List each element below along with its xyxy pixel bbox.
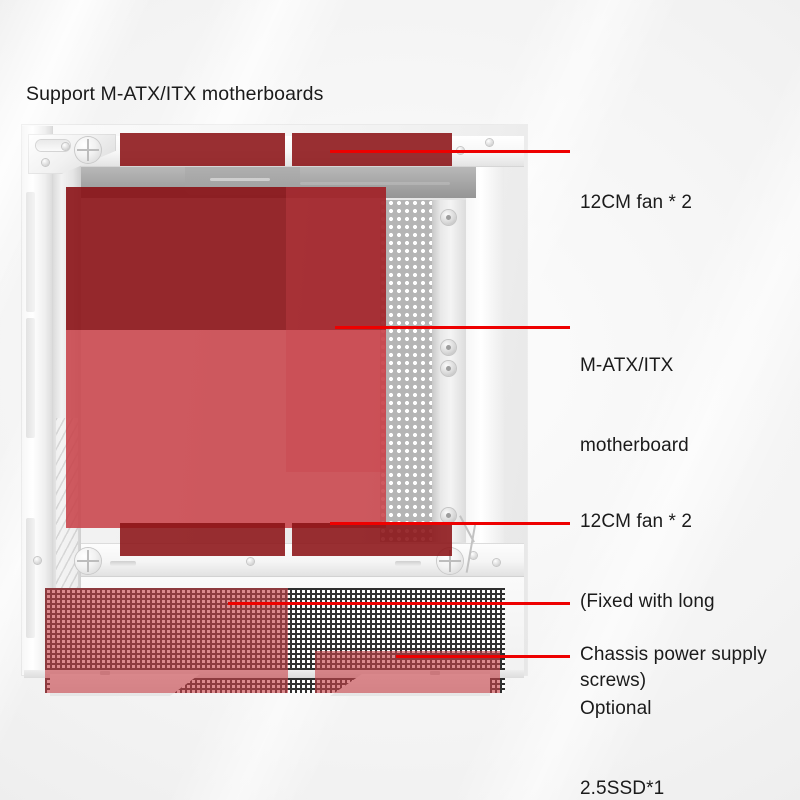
highlight-bottom-fan-left [120, 523, 285, 556]
rail-grommet [441, 361, 456, 376]
frame-slot-vent [395, 561, 421, 566]
screw-dot [486, 139, 493, 146]
product-diagram: Support M-ATX/ITX motherboards Graphics … [0, 0, 800, 800]
leader-line-top-fans [330, 150, 570, 153]
bezel-vent-notch [26, 518, 35, 638]
thumbscrew [75, 548, 101, 574]
callout-motherboard-line-1: M-ATX/ITX [580, 353, 689, 380]
screw-dot [42, 159, 49, 166]
screw-dot [62, 143, 69, 150]
callout-top-fans: 12CM fan * 2 [580, 137, 692, 270]
shroud-highlight [210, 178, 270, 181]
spec-line-1: Support M-ATX/ITX motherboards [26, 81, 323, 108]
leader-line-motherboard [335, 326, 570, 329]
callout-optional-line-1: Optional [580, 696, 692, 723]
leader-line-optional [396, 655, 570, 658]
leader-line-power-supply [228, 602, 570, 605]
pc-case-illustration [0, 118, 545, 698]
rail-grommet [441, 340, 456, 355]
callout-bottom-fans-line-1: 12CM fan * 2 [580, 509, 715, 536]
rail-grommet [441, 508, 456, 523]
highlight-bottom-fan-right [292, 523, 452, 556]
interior-mesh-perforation [380, 200, 432, 542]
highlight-top-fan-left [120, 133, 285, 166]
shroud-highlight [300, 182, 450, 185]
highlight-motherboard-tab [286, 187, 386, 472]
thumbscrew [75, 137, 101, 163]
screw-dot [34, 557, 41, 564]
screw-dot [493, 559, 500, 566]
callout-optional-line-2: 2.5SSD*1 [580, 776, 692, 800]
rail-grommet [441, 210, 456, 225]
case-right-side-panel [466, 146, 504, 566]
frame-slot-vent [110, 561, 136, 566]
callout-top-fans-line-1: 12CM fan * 2 [580, 190, 692, 217]
callout-optional: Optional 2.5SSD*1 3.5HDD*1 12CM fan * 1 [580, 643, 692, 800]
screw-dot [247, 558, 254, 565]
leader-line-bottom-fans [330, 522, 570, 525]
bezel-vent-notch [26, 318, 35, 438]
